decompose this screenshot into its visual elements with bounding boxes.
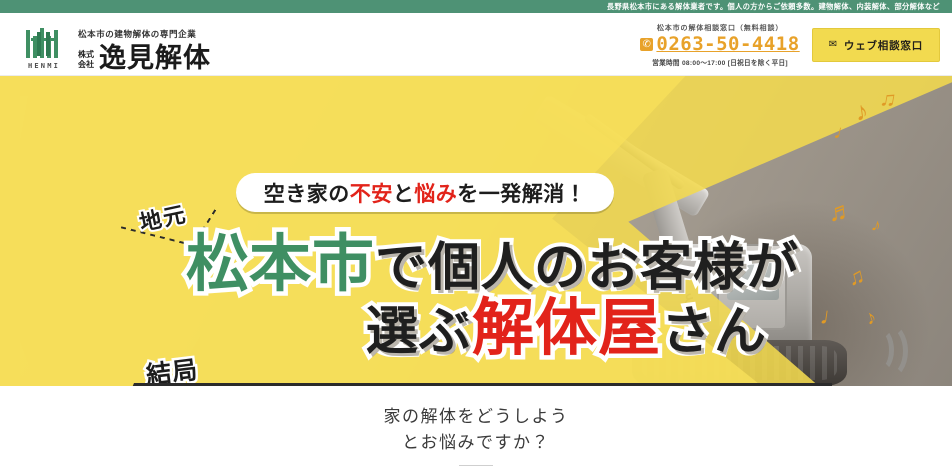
intro-heading-line1: 家の解体をどうしよう bbox=[0, 404, 952, 430]
brand-text-block: 松本市の建物解体の専門企業 株式 会社 逸見解体 bbox=[78, 26, 211, 72]
site-header: HENMI 松本市の建物解体の専門企業 株式 会社 逸見解体 松本市の解体相談窓… bbox=[0, 13, 952, 76]
henmi-logo-icon: HENMI bbox=[22, 26, 66, 70]
pill-highlight-2: 悩み bbox=[414, 183, 457, 206]
headline-city: 松本市 bbox=[186, 230, 375, 299]
brand-name-line: 株式 会社 逸見解体 bbox=[78, 44, 211, 72]
contact-info: 松本市の解体相談窓口（無料相談） 0263-50-4418 営業時間 08:00… bbox=[640, 23, 799, 67]
brand-logo[interactable]: HENMI 松本市の建物解体の専門企業 株式 会社 逸見解体 bbox=[22, 26, 211, 72]
hero-headline-line1: 松本市で個人のお客様が bbox=[186, 234, 799, 296]
logo-pillar-right bbox=[46, 32, 50, 56]
company-prefix-line1: 株式 bbox=[78, 50, 94, 60]
company-prefix-line2: 会社 bbox=[78, 60, 94, 70]
pill-part1: 空き家の bbox=[264, 183, 350, 206]
mail-icon: ✉ bbox=[829, 40, 838, 50]
headline-line2-post: さん bbox=[661, 303, 767, 361]
logo-wordmark: HENMI bbox=[22, 62, 66, 70]
pill-highlight-1: 不安 bbox=[350, 183, 393, 206]
intro-section: 家の解体をどうしよう とお悩みですか？ bbox=[0, 386, 952, 466]
intro-heading-line2: とお悩みですか？ bbox=[0, 430, 952, 456]
headline-line1-rest: で個人のお客様が bbox=[375, 239, 799, 297]
page-root: 長野県松本市にある解体業者です。個人の方からご依頼多数。建物解体、内装解体、部分… bbox=[0, 0, 952, 466]
web-consultation-label: ウェブ相談窓口 bbox=[844, 38, 923, 53]
header-contact: 松本市の解体相談窓口（無料相談） 0263-50-4418 営業時間 08:00… bbox=[640, 23, 940, 67]
business-hours: 営業時間 08:00〜17:00 [日祝日を除く平日] bbox=[640, 57, 799, 67]
web-consultation-button[interactable]: ✉ ウェブ相談窓口 bbox=[812, 28, 940, 62]
hero-banner: ♪ ♫ ♩ ♬ ♪ ♫ ♩ ♪ 空き家の不安と悩みを一発解消！ 地元 松本市で個… bbox=[0, 76, 952, 386]
music-note-icon: ♬ bbox=[827, 197, 856, 226]
phone-number: 0263-50-4418 bbox=[656, 34, 799, 55]
logo-bars bbox=[26, 28, 62, 58]
contact-label: 松本市の解体相談窓口（無料相談） bbox=[640, 23, 799, 33]
intro-heading: 家の解体をどうしよう とお悩みですか？ bbox=[0, 404, 952, 456]
company-prefix: 株式 会社 bbox=[78, 50, 94, 69]
brand-tagline: 松本市の建物解体の専門企業 bbox=[78, 28, 211, 40]
announcement-bar: 長野県松本市にある解体業者です。個人の方からご依頼多数。建物解体、内装解体、部分… bbox=[0, 0, 952, 13]
pill-mid: と bbox=[393, 183, 415, 206]
headline-line2-pre: 選ぶ bbox=[366, 303, 472, 361]
company-name: 逸見解体 bbox=[99, 44, 211, 72]
phone-icon bbox=[640, 38, 653, 51]
logo-crossbar bbox=[31, 38, 57, 41]
logo-pillar-left bbox=[37, 32, 41, 56]
kekkyoku-badge: 結局 bbox=[144, 350, 200, 386]
headline-emphasis: 解体屋 bbox=[472, 294, 661, 363]
hero-pill-text: 空き家の不安と悩みを一発解消！ bbox=[264, 178, 587, 208]
phone-link[interactable]: 0263-50-4418 bbox=[640, 34, 799, 55]
hero-pill-banner: 空き家の不安と悩みを一発解消！ bbox=[236, 173, 614, 212]
pill-part2: を一発解消！ bbox=[457, 183, 586, 206]
hero-headline-line2: 選ぶ解体屋さん bbox=[366, 298, 767, 360]
music-note-icon: ♩ bbox=[818, 304, 845, 331]
motion-arc-icon bbox=[870, 323, 908, 379]
